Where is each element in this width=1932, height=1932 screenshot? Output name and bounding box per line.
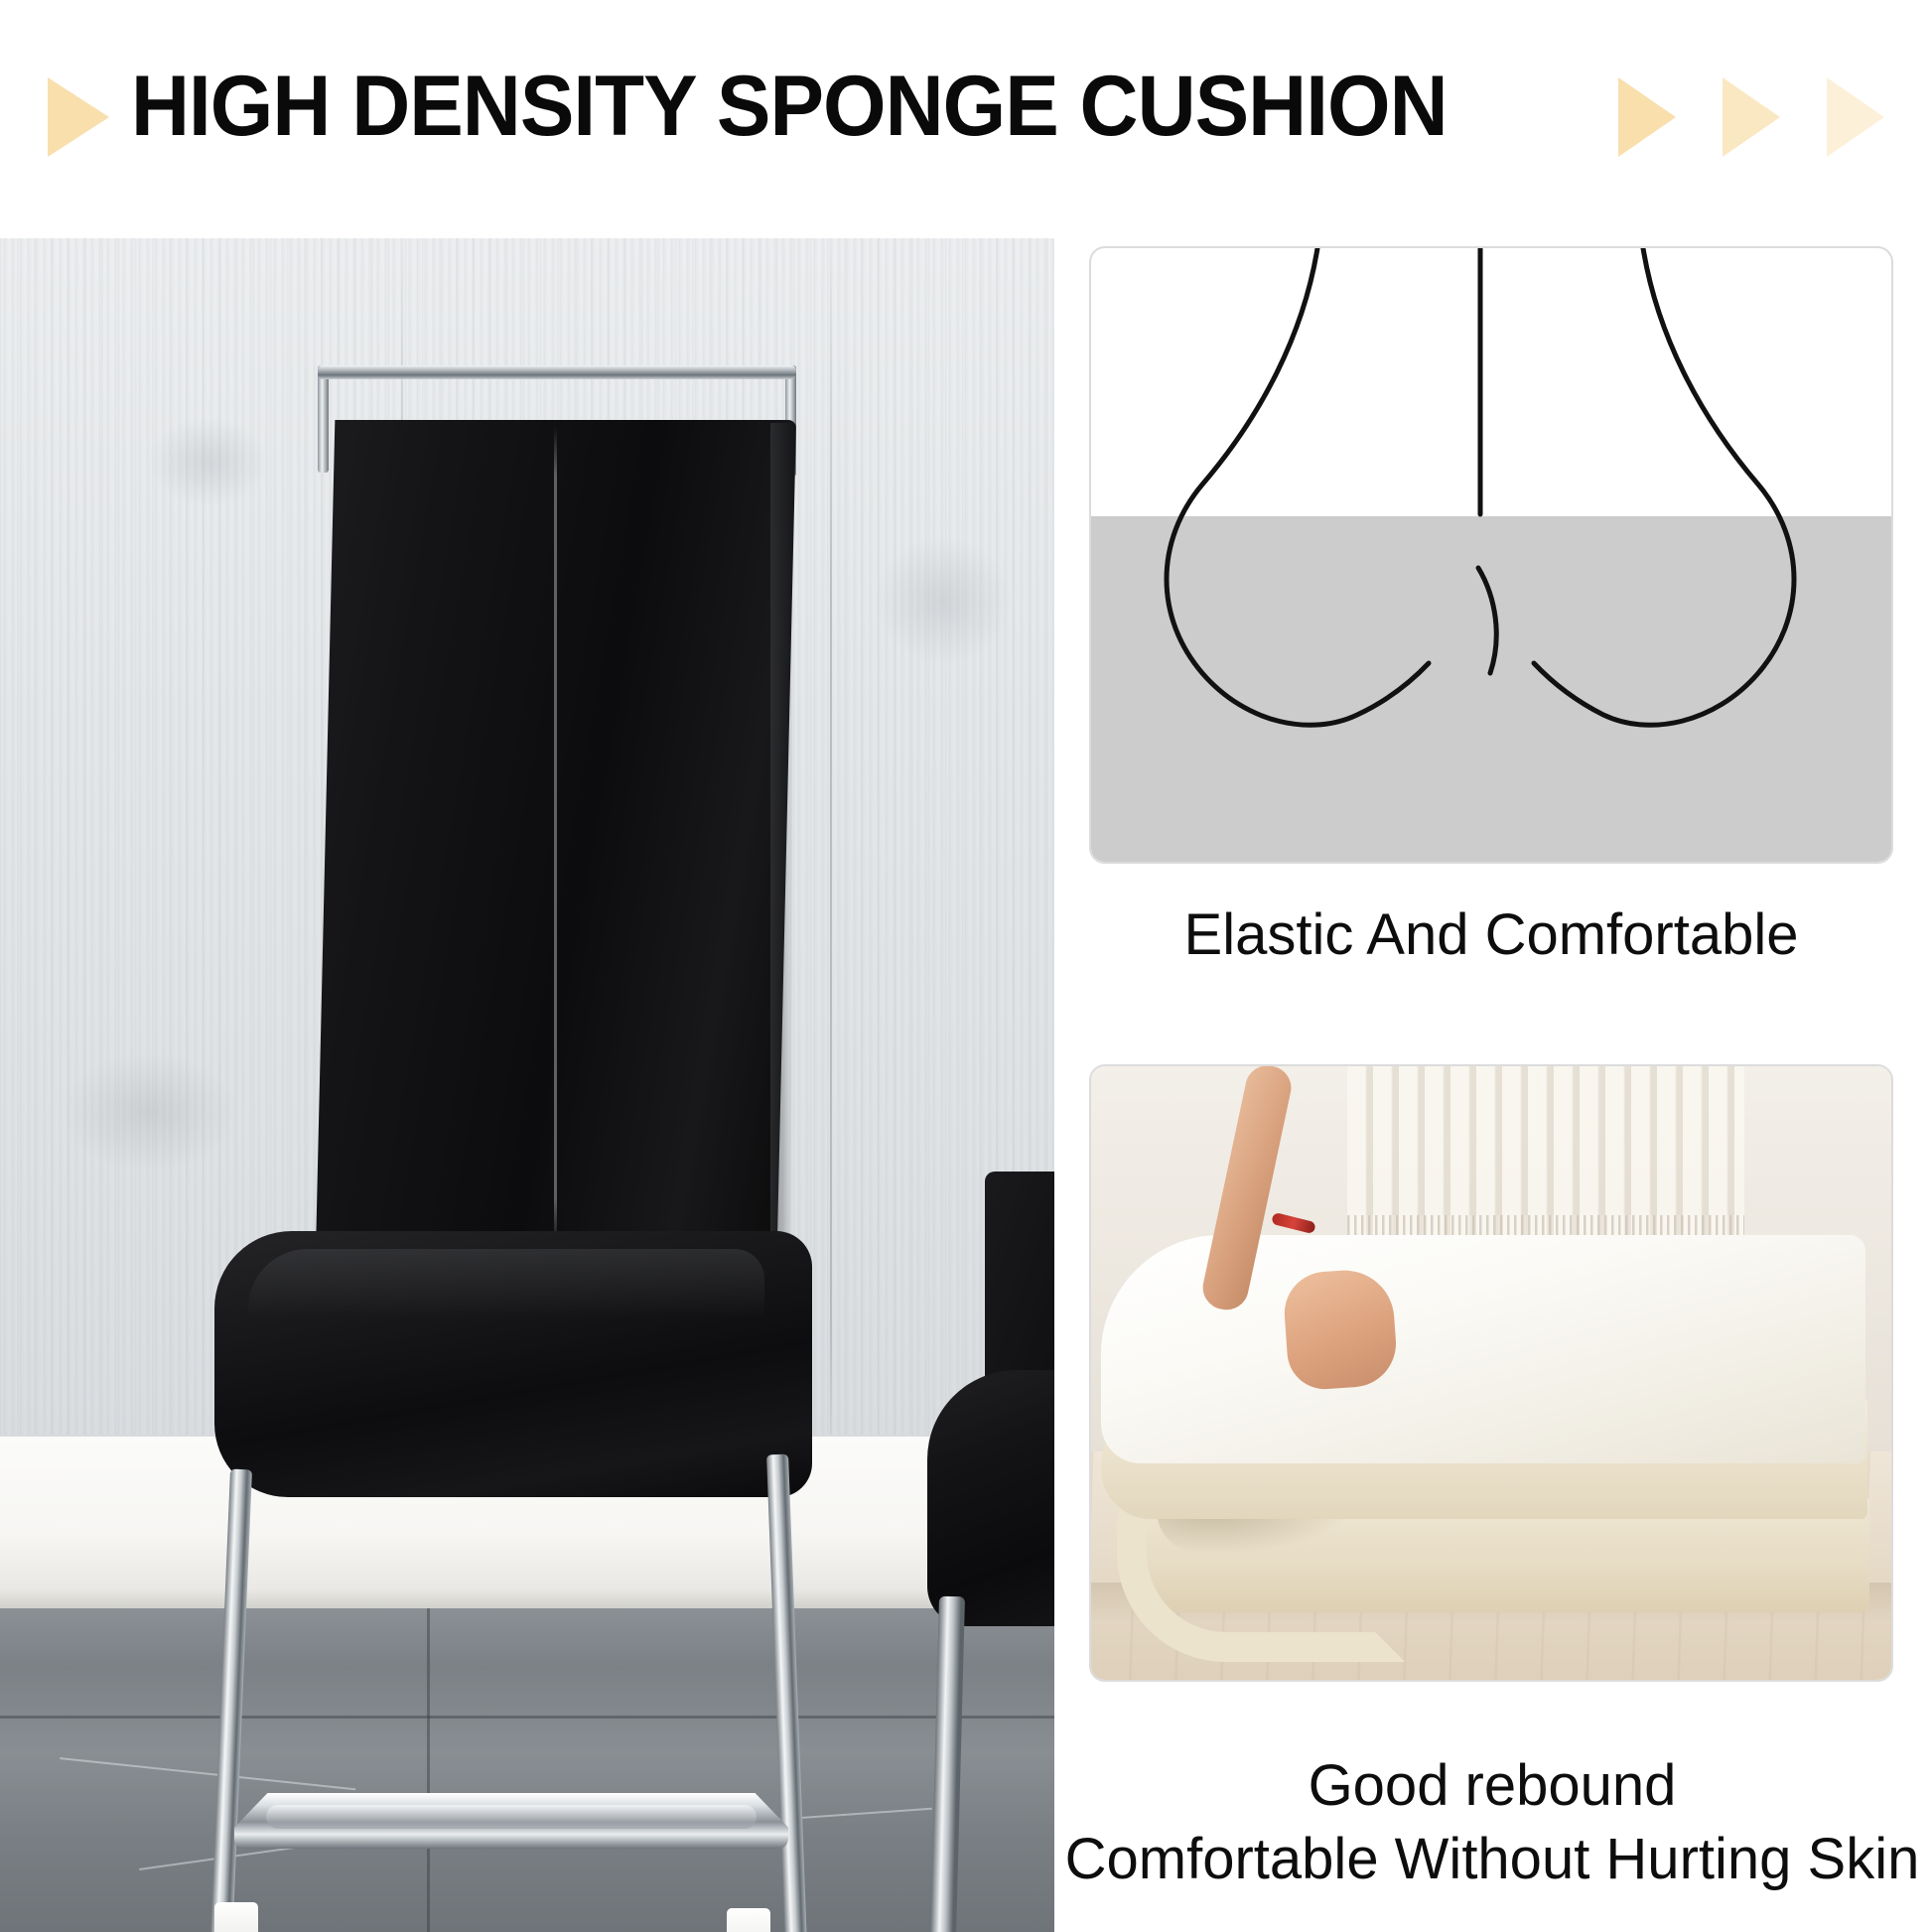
second-chair-backrest <box>985 1172 1054 1400</box>
play-triangle-icon-right-2 <box>1723 77 1780 157</box>
hand-pressing-foam-photo <box>1089 1064 1893 1682</box>
black-leather-dining-chair-photo <box>0 238 1054 1932</box>
white-floor-protector-left <box>214 1902 258 1932</box>
seated-figure-line-art <box>1091 248 1891 862</box>
play-triangle-icon-right-3 <box>1827 77 1884 157</box>
cushion-band <box>1091 516 1891 862</box>
play-triangle-icon-left <box>48 77 109 157</box>
chrome-top-post-left <box>318 365 329 473</box>
caption-good-rebound: Good rebound Comfortable Without Hurting… <box>1062 1749 1922 1896</box>
chair-backrest-side-edge <box>770 423 794 1249</box>
play-triangle-icon-right-1 <box>1618 77 1676 157</box>
chair-seat-highlight <box>248 1249 764 1318</box>
chair-main <box>0 238 1054 1932</box>
caption-line-1: Good rebound <box>1062 1749 1922 1823</box>
seated-figure-on-cushion-diagram <box>1089 246 1893 864</box>
hand-pressing-foam <box>1282 1267 1399 1391</box>
white-floor-protector-right <box>727 1908 770 1932</box>
chrome-leg-right <box>766 1454 807 1932</box>
caption-line-2: Comfortable Without Hurting Skin <box>1062 1823 1922 1896</box>
page-title: HIGH DENSITY SPONGE CUSHION <box>131 52 1448 161</box>
foam-photo-inner <box>1091 1066 1891 1680</box>
second-chair-seat-cushion <box>927 1370 1054 1626</box>
chair-backrest-center-stitch <box>554 427 557 1247</box>
chrome-sled-highlight <box>266 1805 757 1829</box>
caption-elastic-and-comfortable: Elastic And Comfortable <box>1089 898 1893 972</box>
chrome-top-bar <box>318 365 796 379</box>
page-header: HIGH DENSITY SPONGE CUSHION <box>0 0 1932 238</box>
chrome-leg-left <box>210 1469 252 1932</box>
